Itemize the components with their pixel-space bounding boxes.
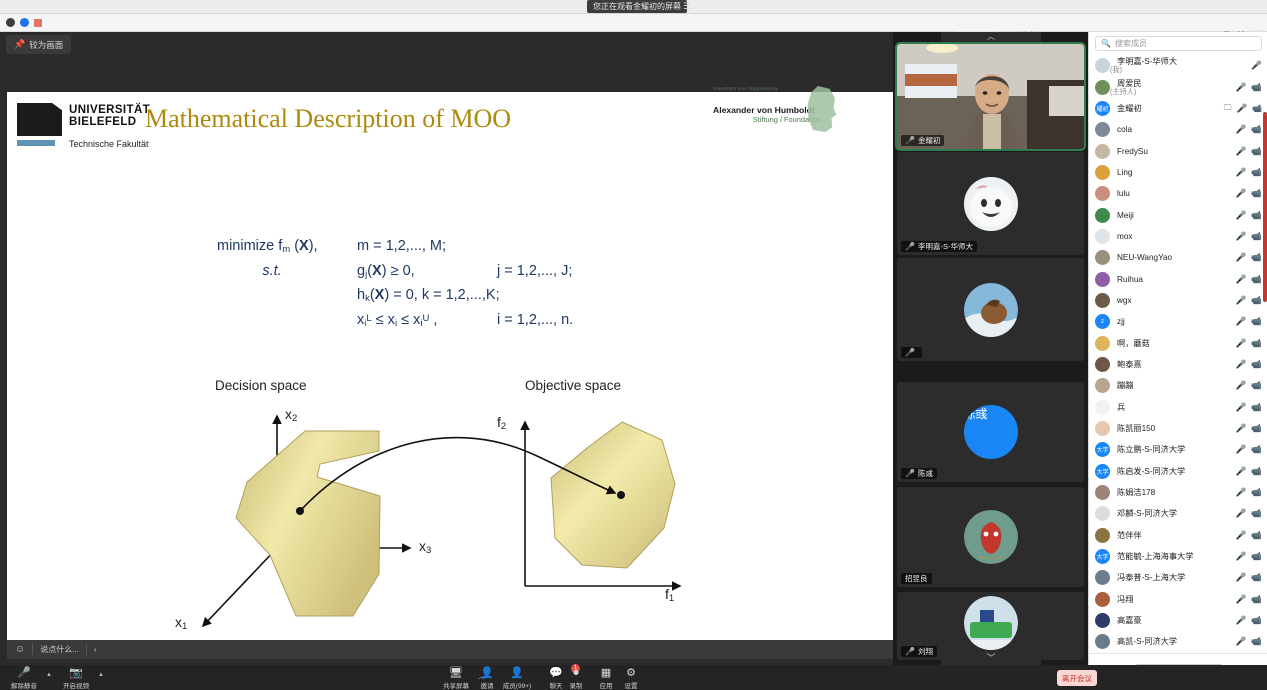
participant-name: 兵 — [1110, 403, 1125, 412]
camera-off-icon[interactable]: 📹 — [1251, 487, 1262, 498]
video-tile[interactable]: 🎤 李明嘉-S-华师大 — [897, 152, 1084, 255]
participant-name: 范能毓-上海海事大学 — [1110, 552, 1193, 561]
participant-name: Ling — [1110, 168, 1132, 177]
participant-row[interactable]: FredySu🎤📹 — [1089, 140, 1267, 161]
participant-row[interactable]: 大学陈启发-S-同济大学🎤📹 — [1089, 461, 1267, 482]
avatar — [964, 283, 1018, 337]
avatar — [964, 510, 1018, 564]
participant-status-icons[interactable]: 🎤📹 — [1236, 380, 1262, 391]
participant-name: 陈娟洁178 — [1110, 488, 1155, 497]
audio-options-caret[interactable]: ▲ — [46, 672, 52, 678]
mic-off-icon[interactable]: 🎤 — [1236, 295, 1247, 306]
participant-status-icons[interactable]: 🎤📹 — [1236, 402, 1262, 413]
participants-button[interactable]: 👤 成员(99+) — [497, 668, 537, 690]
tile-name-label: 🎤 陈彧 — [901, 468, 937, 479]
mic-off-icon: 🎤 — [4, 668, 44, 679]
mic-off-icon[interactable]: 🎤 — [1236, 252, 1247, 263]
start-video-button[interactable]: 📷 开启视频 — [56, 668, 96, 690]
participant-status-icons[interactable]: 🎤📹 — [1236, 594, 1262, 605]
zoom-meeting-window: 您正在观看金耀初的屏幕 ☰ 01:23:28 演讲者视图 ▾ ⛶ ▭ 👥 成员(… — [0, 0, 1267, 690]
participant-name: 冯翔 — [1110, 595, 1133, 604]
camera-off-icon[interactable]: 📹 — [1251, 188, 1262, 199]
mic-off-icon[interactable]: 🎤 — [1236, 530, 1247, 541]
video-tile[interactable]: 陈彧 🎤 陈彧 — [897, 382, 1084, 482]
gear-icon: ⚙ — [611, 668, 651, 679]
mic-off-icon[interactable]: 🎤 — [1236, 274, 1247, 285]
axis-f1-label: f1 — [665, 586, 674, 604]
avatar-art — [964, 177, 1018, 231]
eq1-index: m = 1,2,..., M; — [357, 238, 446, 254]
participant-name: lulu — [1110, 189, 1130, 198]
participant-name: 陈立鹏-S-同济大学 — [1110, 445, 1185, 454]
mic-off-icon[interactable]: 🎤 — [1236, 572, 1247, 583]
avatar — [1095, 186, 1110, 201]
mic-off-icon: 🎤 — [905, 347, 915, 358]
tile-name-label: 🎤 李明嘉-S-华师大 — [901, 241, 977, 252]
participant-status-icons[interactable]: 🎤📹 — [1236, 210, 1262, 221]
participant-name: NEU-WangYao — [1110, 253, 1172, 262]
participant-name: 高嘉豪 — [1110, 616, 1142, 625]
avatar-initials: 陈彧 — [964, 407, 988, 421]
annotation-bar[interactable]: ☺ 说点什么... ‹ — [7, 640, 893, 659]
video-tile[interactable]: 招昱良 — [897, 487, 1084, 587]
video-tile[interactable]: 🎤 刘翔 — [897, 592, 1084, 660]
camera-off-icon[interactable]: 📹 — [1251, 252, 1262, 263]
eq2-st: s.t. — [217, 263, 327, 279]
camera-off-icon[interactable]: 📹 — [1251, 274, 1262, 285]
avatar — [1095, 229, 1110, 244]
participant-row[interactable]: NEU-WangYao🎤📹 — [1089, 247, 1267, 268]
mic-off-icon[interactable]: 🎤 — [1236, 508, 1247, 519]
camera-off-icon[interactable]: 📹 — [1251, 359, 1262, 370]
annotation-input-placeholder[interactable]: 说点什么... — [40, 644, 79, 655]
mic-off-icon: 🎤 — [905, 468, 915, 479]
mic-on-icon: 🎤 — [905, 135, 915, 146]
participant-name: 鲍泰熹 — [1110, 360, 1142, 369]
camera-off-icon[interactable]: 📹 — [1251, 615, 1262, 626]
participant-row[interactable]: Meiji🎤📹 — [1089, 204, 1267, 225]
mic-off-icon[interactable]: 🎤 — [1236, 124, 1247, 135]
participants-icon: 👤 — [497, 668, 537, 679]
mic-off-icon[interactable]: 🎤 — [1236, 402, 1247, 413]
mic-off-icon[interactable]: 🎤 — [1236, 82, 1247, 93]
avatar: 大学 — [1095, 442, 1110, 457]
mic-off-icon[interactable]: 🎤 — [1236, 188, 1247, 199]
participant-name: zjj — [1110, 317, 1125, 326]
presentation-slide: UNIVERSITÄT BIELEFELD Technische Fakultä… — [7, 78, 893, 640]
participant-status-icons[interactable]: 🖵🎤📹 — [1224, 103, 1262, 114]
tile-name-label: 🎤 — [901, 347, 922, 358]
panel-scrollbar[interactable] — [1263, 112, 1267, 302]
participant-status-icons[interactable]: 🎤📹 — [1236, 466, 1262, 477]
search-input[interactable]: 🔍 搜索成员 — [1095, 36, 1262, 51]
participant-name: 冯泰普-S-上海大学 — [1110, 573, 1185, 582]
camera-off-icon[interactable]: 📹 — [1251, 466, 1262, 477]
tile-name-label: 🎤 金耀初 — [901, 135, 944, 146]
mic-off-icon[interactable]: 🎤 — [1236, 316, 1247, 327]
pin-screen-button[interactable]: 📌 较为画面 — [6, 35, 71, 54]
participant-status-icons[interactable]: 🎤📹 — [1236, 295, 1262, 306]
avatar — [1095, 336, 1110, 351]
participant-name: Meiji — [1110, 211, 1134, 220]
axis-x3-label: x3 — [419, 538, 431, 556]
camera-off-icon[interactable]: 📹 — [1251, 316, 1262, 327]
participant-row[interactable]: 李明嘉-S-华师大(我)🎤 — [1089, 55, 1267, 76]
participant-row[interactable]: mox🎤📹 — [1089, 226, 1267, 247]
video-options-caret[interactable]: ▲ — [98, 672, 104, 678]
meeting-toolbar: 🎤 解除静音 ▲ 📷 开启视频 ▲ 🖥 共享屏幕 ︿ 👤 邀请 👤 成员(99+… — [0, 665, 1267, 690]
camera-off-icon: 📷 — [56, 668, 96, 679]
mic-off-icon[interactable]: 🎤 — [1236, 551, 1247, 562]
participant-role: (主持人) — [1110, 88, 1142, 96]
participant-row[interactable]: 冯翔🎤📹 — [1089, 589, 1267, 610]
bielefeld-mark-icon — [17, 103, 62, 136]
mic-off-icon[interactable]: 🎤 — [1236, 444, 1247, 455]
mic-off-icon[interactable]: 🎤 — [1251, 60, 1262, 71]
camera-off-icon[interactable]: 📹 — [1251, 210, 1262, 221]
participant-name: 邓麟-S-同济大学 — [1110, 509, 1177, 518]
participant-name: 陈凯丽150 — [1110, 424, 1155, 433]
unmute-toolbar-button[interactable]: 🎤 解除静音 — [4, 668, 44, 690]
avatar — [1095, 208, 1110, 223]
participant-row[interactable]: wgx🎤📹 — [1089, 290, 1267, 311]
screen-share-notice: 您正在观看金耀初的屏幕 — [587, 0, 687, 13]
participant-status-icons[interactable]: 🎤📹 — [1236, 82, 1262, 93]
participant-name: 金耀初 — [1110, 104, 1142, 113]
participant-status-icons[interactable]: 🎤📹 — [1236, 444, 1262, 455]
tile-name-label: 招昱良 — [901, 573, 932, 584]
camera-off-icon[interactable]: 📹 — [1251, 338, 1262, 349]
camera-off-icon[interactable]: 📹 — [1251, 124, 1262, 135]
avatar — [964, 596, 1018, 650]
chevron-down-icon[interactable]: ﹀ — [941, 653, 1041, 665]
hamburger-icon[interactable]: ☰ — [681, 1, 693, 12]
camera-off-icon[interactable]: 📹 — [1251, 402, 1262, 413]
participant-status-icons[interactable]: 🎤📹 — [1236, 423, 1262, 434]
participant-role: (我) — [1110, 66, 1177, 74]
avatar — [1095, 378, 1110, 393]
participant-status-icons[interactable]: 🎤📹 — [1236, 167, 1262, 178]
participant-row[interactable]: Ruihua🎤📹 — [1089, 268, 1267, 289]
participant-row[interactable]: 范伴伴🎤📹 — [1089, 525, 1267, 546]
axis-x1-label: x1 — [175, 614, 187, 632]
participant-status-icons[interactable]: 🎤📹 — [1236, 487, 1262, 498]
camera-off-icon[interactable]: 📹 — [1251, 380, 1262, 391]
participant-status-icons[interactable]: 🎤📹 — [1236, 530, 1262, 541]
faculty-label: Technische Fakultät — [69, 139, 149, 149]
mic-off-icon[interactable]: 🎤 — [1236, 380, 1247, 391]
participant-row[interactable]: 耀初金耀初🖵🎤📹 — [1089, 98, 1267, 119]
page-title: Mathematical Description of MOO — [145, 104, 511, 134]
app-icon-3[interactable] — [34, 19, 42, 27]
camera-off-icon[interactable]: 📹 — [1251, 231, 1262, 242]
humboldt-logo: Unterstützt von / Supported by Alexander… — [713, 86, 833, 124]
participant-status-icons[interactable]: 🎤📹 — [1236, 274, 1262, 285]
avatar: 大学 — [1095, 464, 1110, 479]
avatar — [1095, 528, 1110, 543]
eq1-objective: minimize fm (X), — [217, 238, 318, 255]
participant-status-icons[interactable]: 🎤📹 — [1236, 615, 1262, 626]
participant-status-icons[interactable]: 🎤 — [1251, 60, 1262, 71]
avatar — [964, 177, 1018, 231]
participant-status-icons[interactable]: 🎤📹 — [1236, 636, 1262, 647]
mic-off-icon[interactable]: 🎤 — [1236, 615, 1247, 626]
avatar-art — [964, 596, 1018, 650]
pin-label: 较为画面 — [29, 39, 63, 51]
camera-off-icon[interactable]: 📹 — [1251, 146, 1262, 157]
mic-off-icon[interactable]: 🎤 — [1236, 338, 1247, 349]
participant-name: FredySu — [1110, 147, 1148, 156]
participant-row[interactable]: 陈娟洁178🎤📹 — [1089, 482, 1267, 503]
mic-on-icon[interactable]: 🎤 — [1236, 103, 1247, 114]
participant-row[interactable]: 兵🎤📹 — [1089, 397, 1267, 418]
participants-panel: 🔍 搜索成员 李明嘉-S-华师大(我)🎤周爱民(主持人)🎤📹耀初金耀初🖵🎤📹co… — [1088, 32, 1267, 690]
avatar: 陈彧 — [964, 405, 1018, 459]
camera-off-icon[interactable]: 📹 — [1251, 551, 1262, 562]
participant-name: mox — [1110, 232, 1132, 241]
participant-status-icons[interactable]: 🎤📹 — [1236, 338, 1262, 349]
participant-row[interactable]: 鲍泰熹🎤📹 — [1089, 354, 1267, 375]
participant-name: 啊，蘑菇 — [1110, 339, 1150, 348]
humboldt-head-icon — [805, 86, 839, 132]
mic-off-icon: 🎤 — [905, 646, 915, 657]
participant-name: cola — [1110, 125, 1132, 134]
screen-share-icon: 🖵 — [1224, 103, 1232, 113]
video-tile[interactable]: 🎤 — [897, 258, 1084, 361]
leave-meeting-button[interactable]: 离开会议 — [1057, 670, 1097, 686]
search-icon: 🔍 — [1101, 39, 1111, 48]
participant-row[interactable]: Ling🎤📹 — [1089, 162, 1267, 183]
axis-f2-label: f2 — [497, 414, 506, 432]
search-placeholder: 搜索成员 — [1115, 38, 1147, 49]
avatar — [1095, 58, 1110, 73]
participant-status-icons[interactable]: 🎤📹 — [1236, 146, 1262, 157]
participant-name: 李明嘉-S-华师大(我) — [1110, 57, 1177, 74]
divider — [1089, 653, 1267, 654]
camera-off-icon[interactable]: 📹 — [1251, 636, 1262, 647]
participant-name: 范伴伴 — [1110, 531, 1142, 540]
participant-row[interactable]: 蹦蹦🎤📹 — [1089, 375, 1267, 396]
participant-status-icons[interactable]: 🎤📹 — [1236, 359, 1262, 370]
participant-row[interactable]: 啊，蘑菇🎤📹 — [1089, 332, 1267, 353]
avatar — [1095, 613, 1110, 628]
camera-off-icon[interactable]: 📹 — [1251, 295, 1262, 306]
os-title-bar: 您正在观看金耀初的屏幕 ☰ — [0, 0, 1267, 14]
eq4-bounds: xiL ≤ xi ≤ xiU , — [357, 312, 437, 329]
chevron-left-icon[interactable]: ‹ — [94, 645, 97, 654]
avatar — [1095, 400, 1110, 415]
mic-off-icon[interactable]: 🎤 — [1236, 636, 1247, 647]
participant-row[interactable]: 冯泰普-S-上海大学🎤📹 — [1089, 567, 1267, 588]
mic-off-icon[interactable]: 🎤 — [1236, 466, 1247, 477]
camera-off-icon[interactable]: 📹 — [1251, 423, 1262, 434]
moo-mapping-figure: Decision space Objective space — [157, 378, 717, 638]
camera-off-icon[interactable]: 📹 — [1251, 167, 1262, 178]
mic-off-icon[interactable]: 🎤 — [1236, 231, 1247, 242]
camera-off-icon[interactable]: 📹 — [1251, 82, 1262, 93]
participant-row[interactable]: 周爱民(主持人)🎤📹 — [1089, 76, 1267, 97]
camera-on-icon[interactable]: 📹 — [1252, 104, 1262, 113]
avatar — [1095, 357, 1110, 372]
mic-off-icon[interactable]: 🎤 — [1236, 167, 1247, 178]
participant-row[interactable]: 大学陈立鹏-S-同济大学🎤📹 — [1089, 439, 1267, 460]
participant-status-icons[interactable]: 🎤📹 — [1236, 231, 1262, 242]
mic-off-icon: 🎤 — [905, 241, 915, 252]
participant-name: wgx — [1110, 296, 1132, 305]
participant-status-icons[interactable]: 🎤📹 — [1236, 252, 1262, 263]
eq3-constraint: hk(X) = 0, k = 1,2,...,K; — [357, 287, 500, 304]
avatar-art — [964, 283, 1018, 337]
participant-name: Ruihua — [1110, 275, 1143, 284]
faculty-bar — [17, 140, 55, 146]
mic-off-icon[interactable]: 🎤 — [1236, 146, 1247, 157]
pin-icon: 📌 — [14, 39, 25, 50]
avatar — [1095, 485, 1110, 500]
avatar — [1095, 506, 1110, 521]
participant-name: 周爱民(主持人) — [1110, 79, 1142, 96]
eq4-index: i = 1,2,..., n. — [497, 312, 573, 328]
participants-list[interactable]: 李明嘉-S-华师大(我)🎤周爱民(主持人)🎤📹耀初金耀初🖵🎤📹cola🎤📹Fre… — [1089, 55, 1267, 657]
avatar — [1095, 272, 1110, 287]
chevron-up-icon[interactable]: ︿ — [941, 32, 1041, 42]
avatar — [1095, 592, 1110, 607]
participant-status-icons[interactable]: 🎤📹 — [1236, 508, 1262, 519]
app-chrome-bar: 01:23:28 演讲者视图 ▾ ⛶ ▭ 👥 成员(119) ⧉ ✕ ≡ — [0, 14, 1267, 32]
emoji-icon[interactable]: ☺ — [15, 644, 25, 655]
avatar: z — [1095, 314, 1110, 329]
mic-off-icon[interactable]: 🎤 — [1236, 423, 1247, 434]
avatar: 耀初 — [1095, 101, 1110, 116]
avatar — [1095, 144, 1110, 159]
camera-off-icon[interactable]: 📹 — [1251, 594, 1262, 605]
avatar — [1095, 250, 1110, 265]
divider — [86, 644, 87, 655]
mic-off-icon[interactable]: 🎤 — [1236, 210, 1247, 221]
divider — [32, 644, 33, 655]
participant-row[interactable]: 大学范能毓-上海海事大学🎤📹 — [1089, 546, 1267, 567]
participant-row[interactable]: 高嘉豪🎤📹 — [1089, 610, 1267, 631]
app-icon-2[interactable] — [20, 18, 29, 27]
camera-off-icon[interactable]: 📹 — [1251, 444, 1262, 455]
humboldt-sub: Stiftung / Foundation — [713, 115, 821, 124]
participant-name: 陈启发-S-同济大学 — [1110, 467, 1185, 476]
participant-name: 蹦蹦 — [1110, 381, 1133, 390]
avatar — [1095, 634, 1110, 649]
mic-off-icon[interactable]: 🎤 — [1236, 487, 1247, 498]
avatar-art — [964, 510, 1018, 564]
shared-screen-stage: 📌 较为画面 UNIVERSITÄT BIELEFELD Technische … — [0, 32, 893, 665]
avatar — [1095, 122, 1110, 137]
university-name: UNIVERSITÄT BIELEFELD — [69, 105, 150, 128]
avatar: 大学 — [1095, 549, 1110, 564]
webcam-frame — [897, 44, 1084, 149]
participant-row[interactable]: cola🎤📹 — [1089, 119, 1267, 140]
participant-row[interactable]: zzjj🎤📹 — [1089, 311, 1267, 332]
mic-off-icon[interactable]: 🎤 — [1236, 359, 1247, 370]
eq2-constraint: gj(X) ≥ 0, — [357, 263, 415, 280]
participant-status-icons[interactable]: 🎤📹 — [1236, 316, 1262, 327]
axis-x2-label: x2 — [285, 406, 297, 424]
participant-status-icons[interactable]: 🎤📹 — [1236, 572, 1262, 583]
eq2-index: j = 1,2,..., J; — [497, 263, 572, 279]
figure-svg — [157, 378, 717, 638]
participant-row[interactable]: 高凯-S-同济大学🎤📹 — [1089, 631, 1267, 652]
participant-name: 高凯-S-同济大学 — [1110, 637, 1177, 646]
avatar — [1095, 165, 1110, 180]
avatar — [1095, 421, 1110, 436]
participant-status-icons[interactable]: 🎤📹 — [1236, 188, 1262, 199]
video-tile-active[interactable]: 🎤 金耀初 — [897, 44, 1084, 149]
camera-off-icon[interactable]: 📹 — [1251, 572, 1262, 583]
settings-button[interactable]: ⚙ 设置 — [611, 668, 651, 690]
participant-status-icons[interactable]: 🎤📹 — [1236, 124, 1262, 135]
participant-row[interactable]: lulu🎤📹 — [1089, 183, 1267, 204]
mic-off-icon[interactable]: 🎤 — [1236, 594, 1247, 605]
video-filmstrip: ︿ 🎤 金耀初 — [893, 32, 1088, 665]
participant-row[interactable]: 邓麟-S-同济大学🎤📹 — [1089, 503, 1267, 524]
avatar — [1095, 80, 1110, 95]
avatar — [1095, 570, 1110, 585]
window-controls[interactable] — [6, 18, 42, 27]
app-icon-1[interactable] — [6, 18, 15, 27]
participant-status-icons[interactable]: 🎤📹 — [1236, 551, 1262, 562]
participant-row[interactable]: 陈凯丽150🎤📹 — [1089, 418, 1267, 439]
camera-off-icon[interactable]: 📹 — [1251, 530, 1262, 541]
tile-name-label: 🎤 刘翔 — [901, 646, 937, 657]
avatar — [1095, 293, 1110, 308]
camera-off-icon[interactable]: 📹 — [1251, 508, 1262, 519]
